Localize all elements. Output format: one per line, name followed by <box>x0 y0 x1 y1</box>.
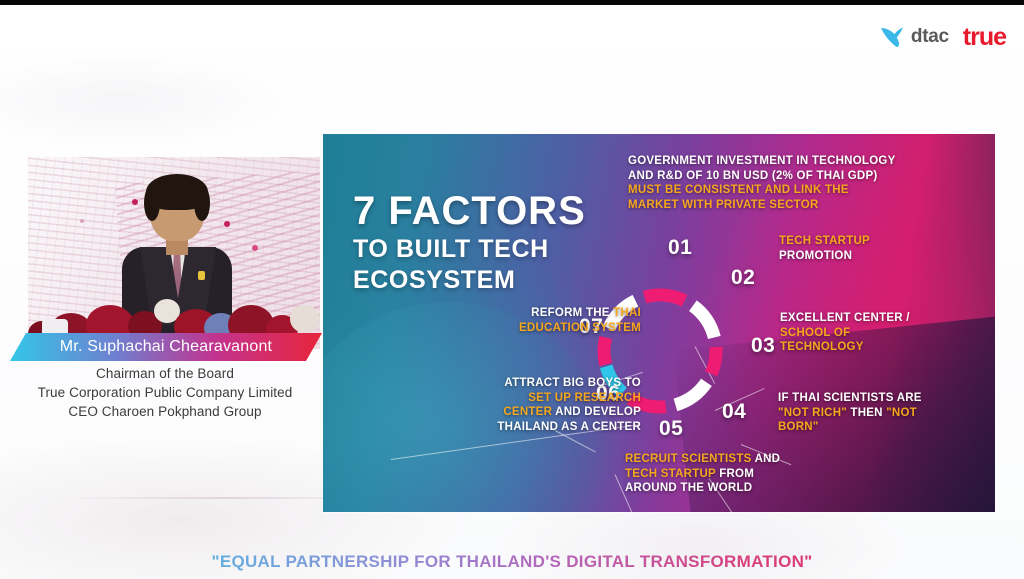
ring-number-01: 01 <box>668 236 692 260</box>
caption-text: AROUND THE WORLD <box>625 482 752 494</box>
presentation-stage: dtac true <box>0 0 1024 579</box>
ring-number-05: 05 <box>659 417 683 441</box>
caption-line: MUST BE CONSISTENT AND LINK THE <box>628 183 988 198</box>
seg-04 <box>693 306 714 338</box>
brand-logos: dtac true <box>877 22 1006 52</box>
factor-caption-07: REFORM THE THAIEDUCATION SYSTEM <box>441 306 641 335</box>
caption-text-highlight: MUST BE CONSISTENT AND LINK THE <box>628 184 849 196</box>
caption-text: IF THAI SCIENTISTS ARE <box>778 392 922 404</box>
ring-number-03: 03 <box>751 334 775 358</box>
factor-caption-03: EXCELLENT CENTER /SCHOOL OFTECHNOLOGY <box>780 311 960 355</box>
caption-text: PROMOTION <box>779 250 852 262</box>
caption-line: TECHNOLOGY <box>780 340 960 355</box>
caption-line: ATTRACT BIG BOYS TO <box>441 376 641 391</box>
caption-line: SET UP RESEARCH <box>441 391 641 406</box>
dtac-bird-icon <box>877 22 907 52</box>
caption-text: THEN <box>847 407 886 419</box>
caption-text: AND R&D OF 10 BN USD (2% OF THAI GDP) <box>628 170 878 182</box>
caption-line: "NOT RICH" THEN "NOT <box>778 406 963 421</box>
caption-text: ATTRACT BIG BOYS TO <box>504 377 641 389</box>
ring-number-02: 02 <box>731 266 755 290</box>
caption-line: BORN" <box>778 420 963 435</box>
speaker-credits: Chairman of the Board True Corporation P… <box>0 364 330 421</box>
caption-line: MARKET WITH PRIVATE SECTOR <box>628 198 988 213</box>
caption-text-highlight: RECRUIT SCIENTISTS <box>625 453 752 465</box>
flower <box>290 305 320 333</box>
caption-text-highlight: TECHNOLOGY <box>780 341 864 353</box>
caption-line: CENTER AND DEVELOP <box>441 405 641 420</box>
slide-title-line3: ECOSYSTEM <box>353 267 586 294</box>
caption-text: EXCELLENT CENTER / <box>780 312 910 324</box>
seg-05 <box>711 347 716 374</box>
backdrop-dot <box>80 219 84 223</box>
caption-line: THAILAND AS A CENTER <box>441 420 641 435</box>
speaker-credit-line: CEO Charoen Pokphand Group <box>0 402 330 421</box>
caption-text: AND <box>752 453 781 465</box>
slide-title-line1: 7 FACTORS <box>353 190 586 232</box>
factor-caption-05: RECRUIT SCIENTISTS ANDTECH STARTUP FROMA… <box>625 452 825 496</box>
speaker-name: Mr. Suphachai Chearavanont <box>60 338 272 356</box>
speaker-name-plate: Mr. Suphachai Chearavanont <box>10 333 322 361</box>
caption-line: AROUND THE WORLD <box>625 481 825 496</box>
caption-text-highlight: CENTER <box>503 406 552 418</box>
caption-line: PROMOTION <box>779 249 949 264</box>
caption-line: TECH STARTUP <box>779 234 949 249</box>
factor-caption-04: IF THAI SCIENTISTS ARE"NOT RICH" THEN "N… <box>778 391 963 435</box>
caption-text: FROM <box>716 468 754 480</box>
true-wordmark: true <box>963 23 1006 52</box>
speaker-video <box>28 157 320 349</box>
caption-line: IF THAI SCIENTISTS ARE <box>778 391 963 406</box>
factor-caption-01: GOVERNMENT INVESTMENT IN TECHNOLOGYAND R… <box>628 154 988 212</box>
presentation-slide: 7 FACTORS TO BUILT TECH ECOSYSTEM 01 02 … <box>323 134 995 512</box>
caption-line: GOVERNMENT INVESTMENT IN TECHNOLOGY <box>628 154 988 169</box>
event-tagline: "EQUAL PARTNERSHIP FOR THAILAND'S DIGITA… <box>0 552 1024 572</box>
caption-text: GOVERNMENT INVESTMENT IN TECHNOLOGY <box>628 155 896 167</box>
caption-text-highlight: MARKET WITH PRIVATE SECTOR <box>628 199 819 211</box>
caption-line: REFORM THE THAI <box>441 306 641 321</box>
caption-text-highlight: TECH STARTUP <box>779 235 870 247</box>
caption-text-highlight: "NOT RICH" <box>778 407 847 419</box>
speaker-credit-line: True Corporation Public Company Limited <box>0 383 330 402</box>
caption-text-highlight: EDUCATION SYSTEM <box>519 322 641 334</box>
speaker-lapel-pin <box>198 271 205 280</box>
slide-title-line2: TO BUILT TECH <box>353 236 586 263</box>
caption-line: TECH STARTUP FROM <box>625 467 825 482</box>
seg-03 <box>645 295 685 301</box>
top-black-bar <box>0 0 1024 5</box>
caption-text-highlight: "NOT <box>886 407 917 419</box>
dtac-logo: dtac <box>877 22 949 52</box>
caption-text-highlight: TECH STARTUP <box>625 468 716 480</box>
dtac-wordmark: dtac <box>911 26 949 48</box>
caption-line: SCHOOL OF <box>780 326 960 341</box>
ring-number-04: 04 <box>722 400 746 424</box>
factor-caption-06: ATTRACT BIG BOYS TOSET UP RESEARCHCENTER… <box>441 376 641 434</box>
caption-text: REFORM THE <box>531 307 613 319</box>
caption-text-highlight: SET UP RESEARCH <box>528 392 641 404</box>
caption-text-highlight: BORN" <box>778 421 819 433</box>
speaker-hair-side-left <box>144 185 160 221</box>
caption-line: EXCELLENT CENTER / <box>780 311 960 326</box>
speaker-hair-side-right <box>194 185 210 221</box>
speaker-credit-line: Chairman of the Board <box>0 364 330 383</box>
seg-01 <box>604 337 606 364</box>
seg-06 <box>675 382 706 405</box>
caption-text-highlight: THAI <box>613 307 641 319</box>
caption-line: RECRUIT SCIENTISTS AND <box>625 452 825 467</box>
caption-line: AND R&D OF 10 BN USD (2% OF THAI GDP) <box>628 169 988 184</box>
caption-line: EDUCATION SYSTEM <box>441 321 641 336</box>
factor-caption-02: TECH STARTUPPROMOTION <box>779 234 949 263</box>
caption-text: THAILAND AS A CENTER <box>497 421 641 433</box>
slide-title: 7 FACTORS TO BUILT TECH ECOSYSTEM <box>353 190 586 294</box>
backdrop-dot <box>252 245 258 251</box>
caption-text-highlight: SCHOOL OF <box>780 327 850 339</box>
caption-text: AND DEVELOP <box>552 406 641 418</box>
